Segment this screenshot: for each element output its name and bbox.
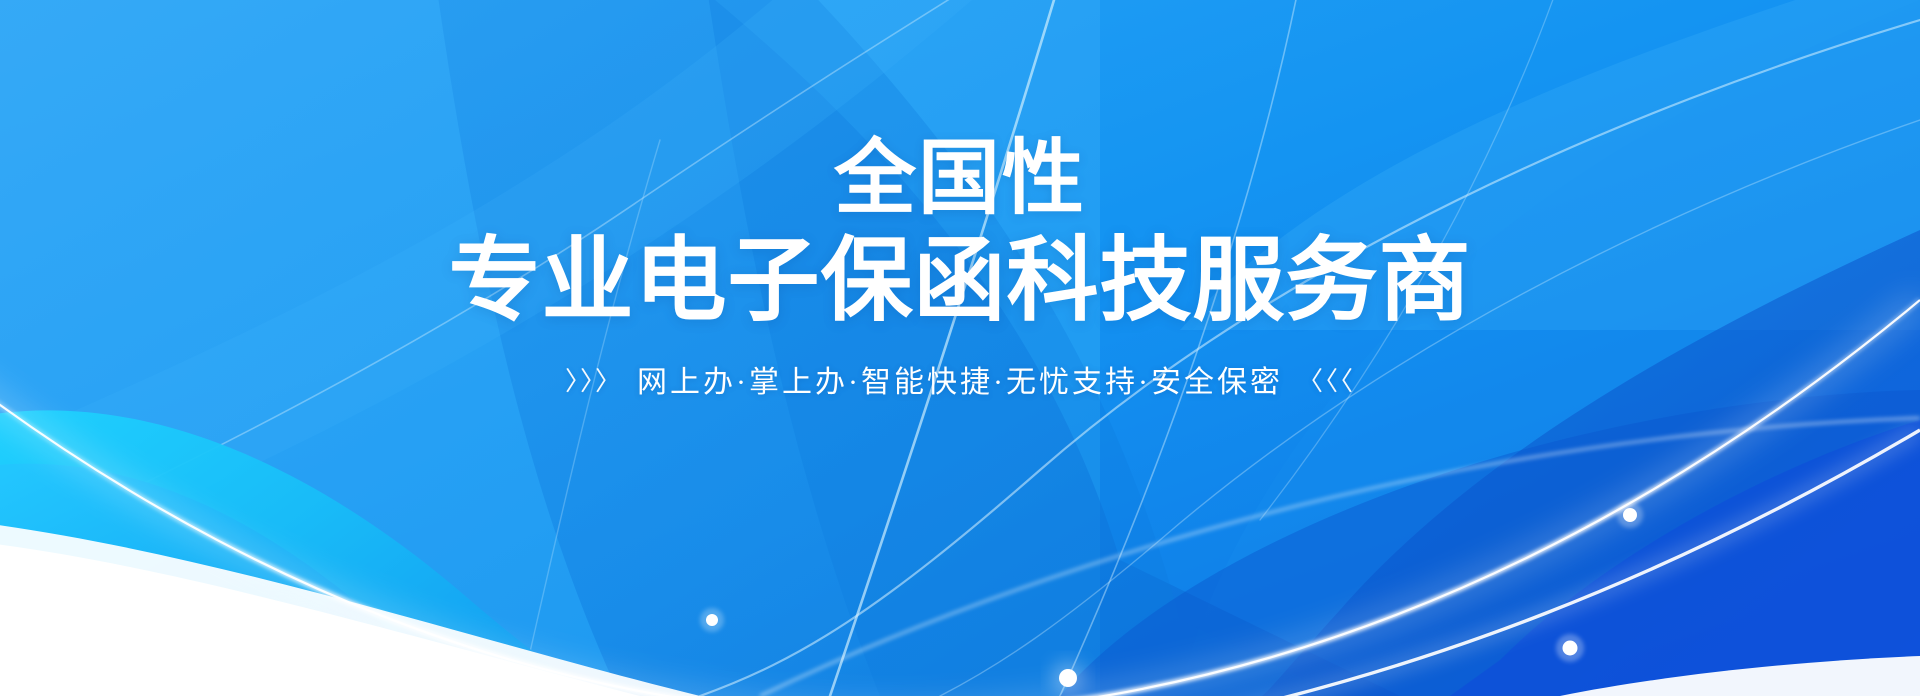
subtitle-text: 网上办·掌上办·智能快捷·无忧支持·安全保密 bbox=[637, 357, 1283, 401]
headline-line-1: 全国性 bbox=[448, 138, 1471, 220]
banner-background bbox=[0, 0, 1920, 696]
hero-banner: 全国性 专业电子保函科技服务商 〉〉〉 网上办·掌上办·智能快捷·无忧支持·安全… bbox=[0, 0, 1920, 696]
chevrons-left-icon: 〉〉〉 bbox=[565, 361, 623, 398]
headline-line-2: 专业电子保函科技服务商 bbox=[448, 232, 1471, 331]
subtitle-row: 〉〉〉 网上办·掌上办·智能快捷·无忧支持·安全保密 〈〈〈 bbox=[565, 357, 1355, 401]
chevrons-right-icon: 〈〈〈 bbox=[1297, 361, 1355, 398]
headline-block: 全国性 专业电子保函科技服务商 bbox=[448, 138, 1471, 331]
